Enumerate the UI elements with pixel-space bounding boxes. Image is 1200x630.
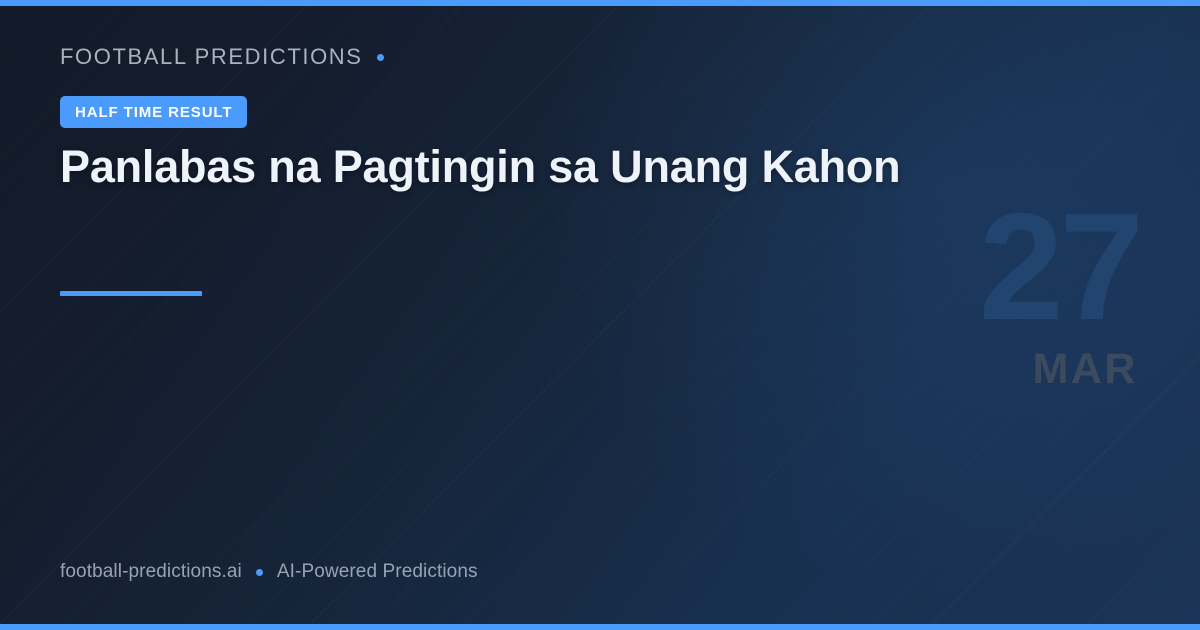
- date-month: MAR: [979, 345, 1138, 394]
- bottom-accent-bar: [0, 624, 1200, 630]
- page-title: Panlabas na Pagtingin sa Unang Kahon: [60, 140, 940, 193]
- category-badge: HALF TIME RESULT: [60, 96, 247, 128]
- footer-site-url: football-predictions.ai: [60, 561, 242, 583]
- dot-icon: [256, 569, 263, 576]
- footer-tagline: AI-Powered Predictions: [277, 561, 478, 583]
- title-accent-underline: [60, 291, 202, 296]
- date-block: 27 MAR: [979, 198, 1140, 394]
- footer: football-predictions.ai AI-Powered Predi…: [60, 561, 478, 583]
- top-accent-bar: [0, 0, 1200, 6]
- dot-icon: [377, 54, 384, 61]
- eyebrow-label: FOOTBALL PREDICTIONS: [60, 46, 363, 68]
- eyebrow: FOOTBALL PREDICTIONS: [60, 46, 384, 68]
- og-card: FOOTBALL PREDICTIONS HALF TIME RESULT Pa…: [0, 0, 1200, 630]
- category-badge-label: HALF TIME RESULT: [75, 105, 232, 120]
- date-day: 27: [979, 198, 1140, 338]
